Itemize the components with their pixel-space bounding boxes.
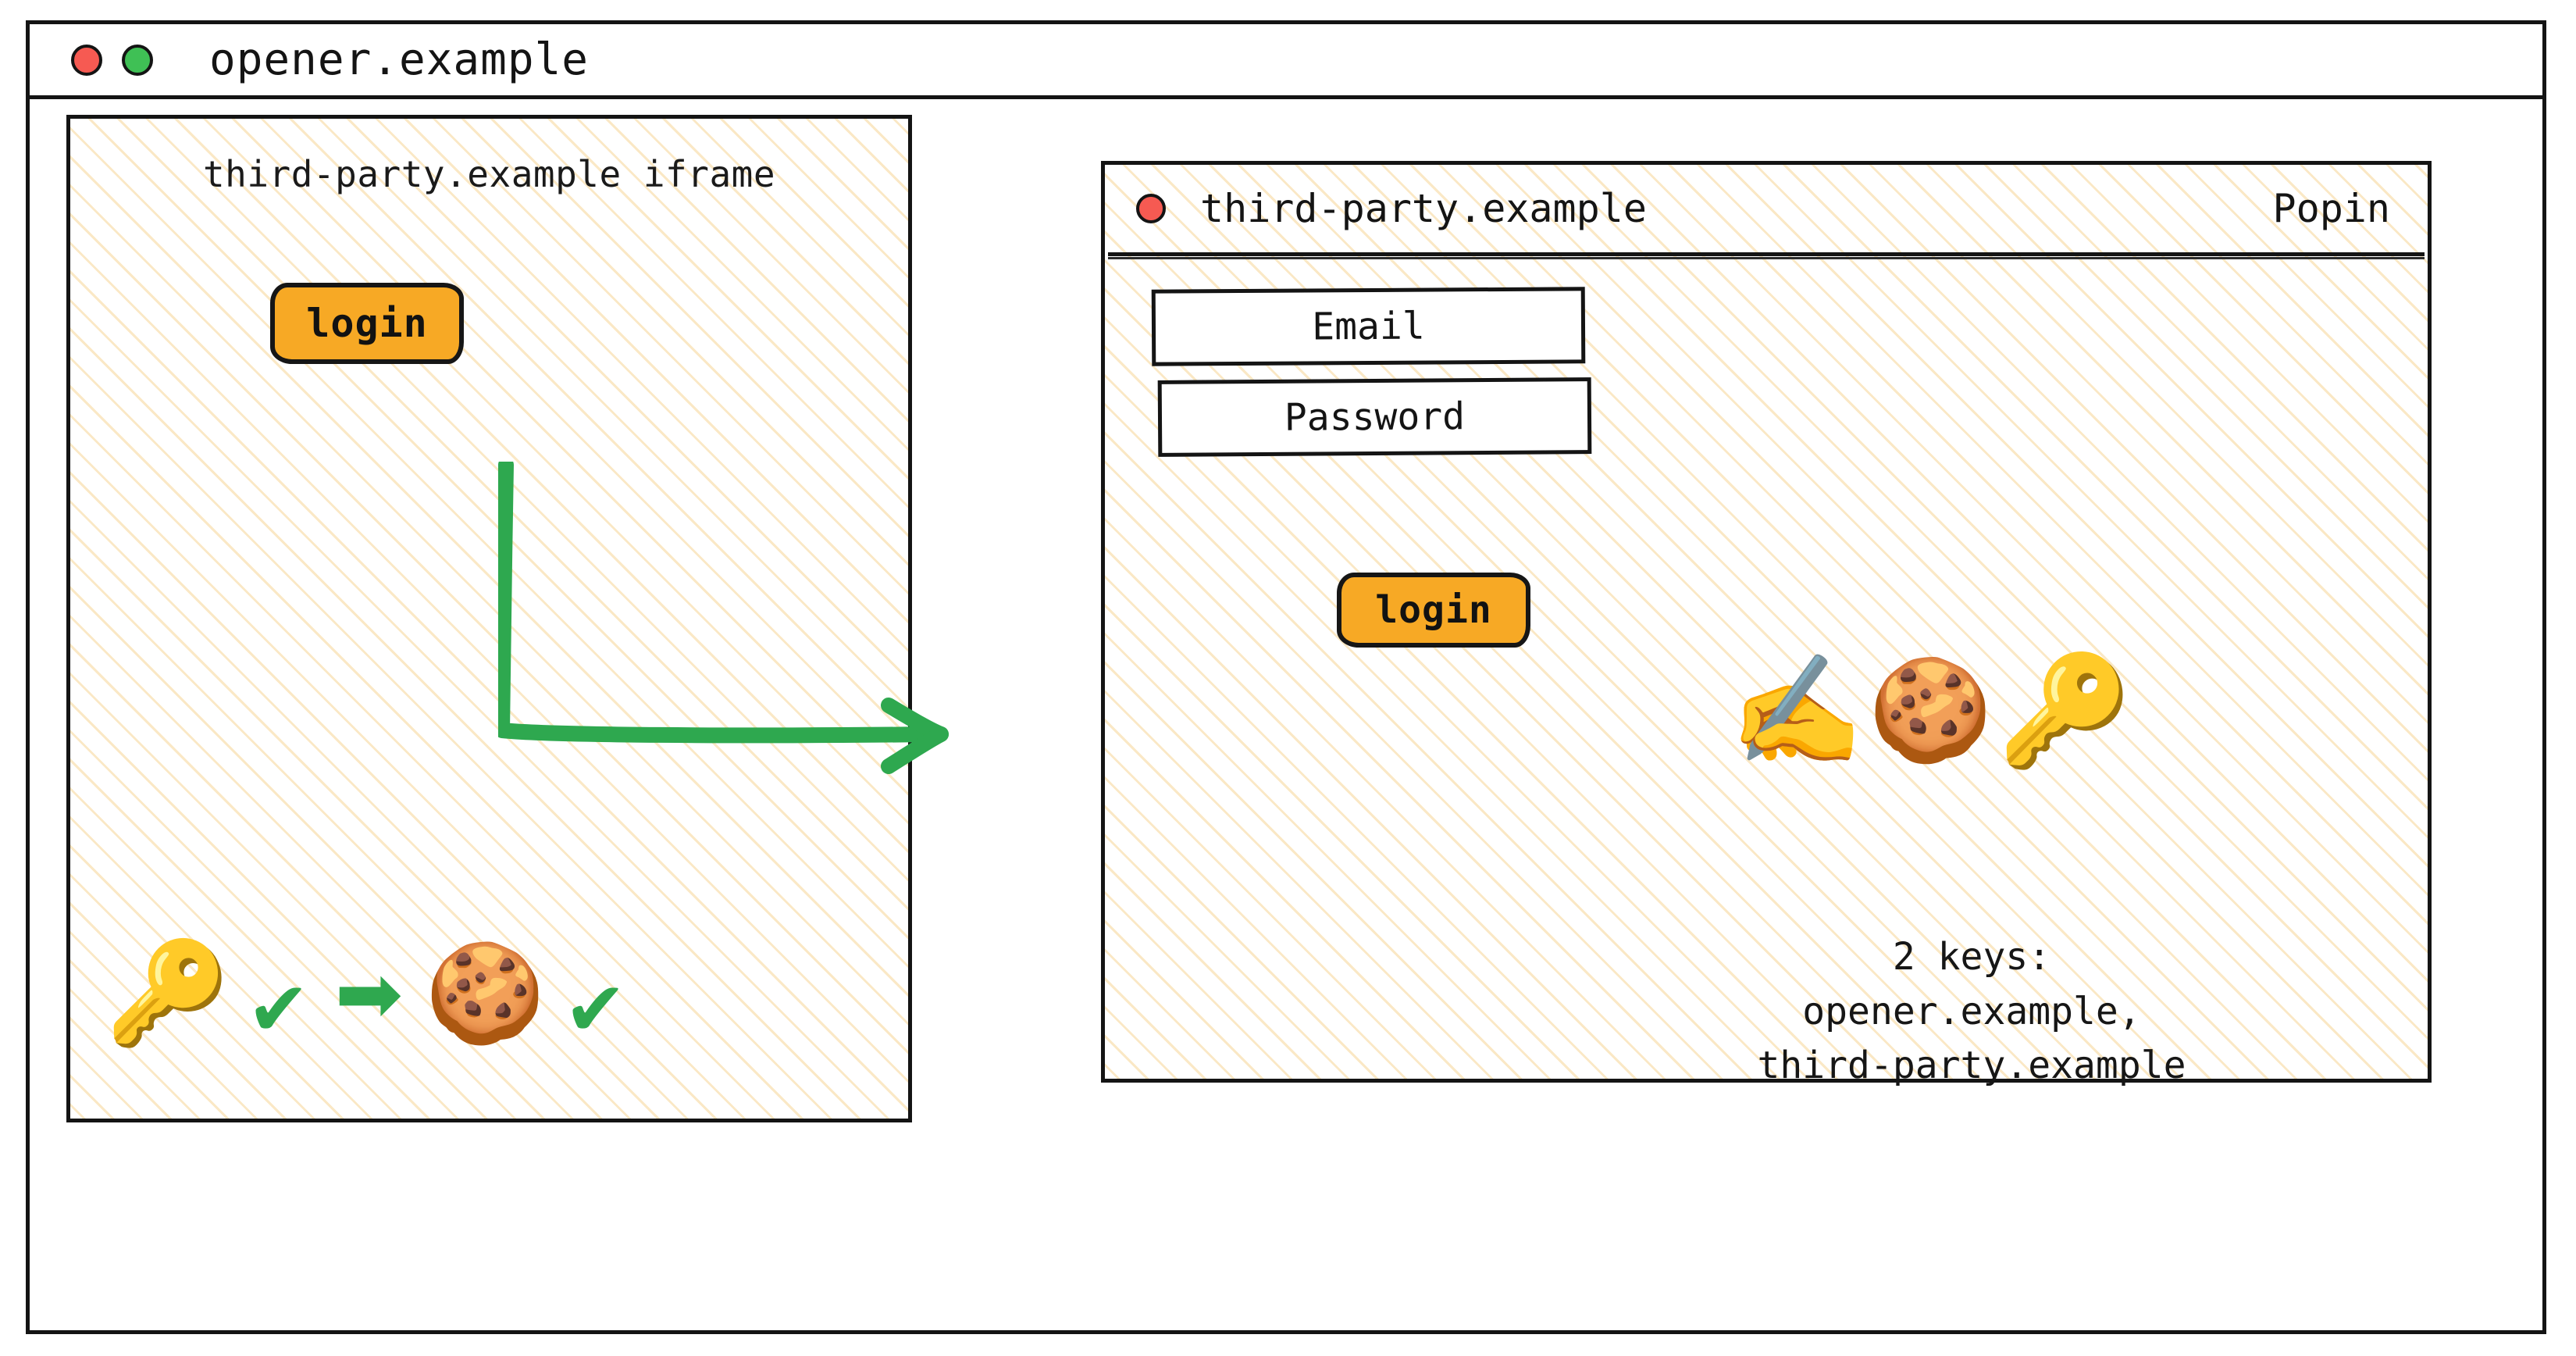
check-mark-icon: ✔ — [247, 972, 309, 1047]
popup-titlebar: third-party.example Popin — [1105, 165, 2428, 252]
popup-storage-row: ✍️ 🍪 🔑 — [1730, 657, 2132, 765]
key-emoji: 🔑 — [1997, 657, 2132, 765]
browser-titlebar: opener.example — [30, 24, 2542, 99]
key-emoji: 🔑 — [105, 944, 230, 1044]
password-field[interactable]: Password — [1158, 377, 1592, 457]
popup-login-button[interactable]: login — [1337, 573, 1530, 648]
keys-note: 2 keys: opener.example, third-party.exam… — [1698, 930, 2245, 1094]
popup-login-form: Email Password — [1152, 288, 1620, 469]
popup-window: third-party.example Popin Email Password… — [1101, 161, 2432, 1083]
cookie-emoji: 🍪 — [425, 945, 545, 1042]
maximize-dot[interactable] — [122, 45, 153, 76]
popup-kind-label: Popin — [2272, 186, 2390, 231]
close-dot[interactable] — [71, 45, 102, 76]
check-mark-icon: ✔ — [564, 972, 626, 1047]
browser-title: opener.example — [209, 34, 589, 85]
cookie-emoji: 🍪 — [1869, 661, 1993, 761]
popup-header-divider — [1108, 252, 2425, 259]
third-party-iframe-panel: third-party.example iframe login 🔑 ✔ ➡ 🍪… — [66, 115, 912, 1122]
browser-window: opener.example third-party.example ifram… — [26, 20, 2546, 1334]
iframe-login-button[interactable]: login — [270, 283, 464, 364]
right-arrow-icon: ➡ — [335, 953, 403, 1034]
iframe-title-label: third-party.example iframe — [70, 153, 908, 195]
iframe-storage-row: 🔑 ✔ ➡ 🍪 ✔ — [105, 923, 878, 1064]
email-field[interactable]: Email — [1152, 287, 1586, 366]
popup-title: third-party.example — [1200, 186, 1647, 231]
writing-hand-emoji: ✍️ — [1730, 657, 1864, 765]
close-dot[interactable] — [1136, 194, 1166, 223]
